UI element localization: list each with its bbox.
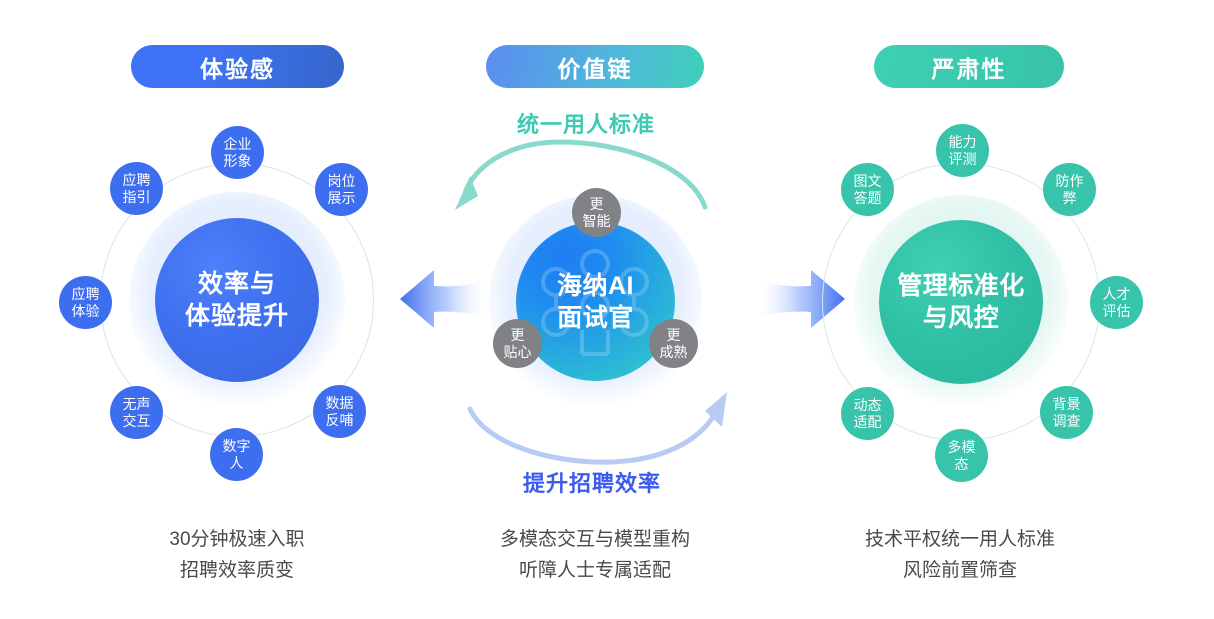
arc-bottom-label: 提升招聘效率 (523, 466, 661, 498)
sat-line2: 调查 (1053, 413, 1081, 430)
right-satellite-multimodal[interactable]: 多模 态 (935, 429, 988, 482)
right-satellite-dynamic-adaptation[interactable]: 动态 适配 (841, 387, 894, 440)
center-core-circle: 海纳AI 面试官 (516, 222, 675, 381)
sat-line1: 防作 (1056, 173, 1084, 190)
caption-center-line1: 多模态交互与模型重构 (455, 525, 735, 556)
arc-top-label: 统一用人标准 (517, 107, 655, 139)
right-satellite-image-text-qa[interactable]: 图文 答题 (841, 163, 894, 216)
sat-line2: 态 (955, 456, 969, 473)
caption-right-line2: 风险前置筛查 (820, 556, 1100, 587)
right-satellite-capability-assessment[interactable]: 能力 评测 (936, 124, 989, 177)
sat-line1: 动态 (854, 397, 882, 414)
sat-line2: 评测 (949, 151, 977, 168)
right-core-circle: 管理标准化 与风控 (879, 220, 1043, 384)
right-core-line1: 管理标准化 (897, 270, 1025, 302)
right-satellite-background-check[interactable]: 背景 调查 (1040, 386, 1093, 439)
sat-line1: 能力 (949, 134, 977, 151)
arc-top-unified-standard-icon (455, 142, 705, 210)
sat-line1: 多模 (948, 439, 976, 456)
caption-left-line1: 30分钟极速入职 (97, 525, 377, 556)
caption-left: 30分钟极速入职 招聘效率质变 (97, 525, 377, 587)
caption-left-line2: 招聘效率质变 (97, 556, 377, 587)
sat-line2: 弊 (1063, 190, 1077, 207)
sat-line1: 图文 (854, 173, 882, 190)
caption-center: 多模态交互与模型重构 听障人士专属适配 (455, 525, 735, 587)
caption-right: 技术平权统一用人标准 风险前置筛查 (820, 525, 1100, 587)
right-core-line2: 与风控 (923, 302, 1000, 334)
caption-right-line1: 技术平权统一用人标准 (820, 525, 1100, 556)
sat-line2: 适配 (854, 414, 882, 431)
caption-center-line2: 听障人士专属适配 (455, 556, 735, 587)
sat-line1: 人才 (1103, 286, 1131, 303)
right-satellite-talent-evaluation[interactable]: 人才 评估 (1090, 276, 1143, 329)
arc-bottom-efficiency-icon (470, 392, 727, 462)
sat-line1: 背景 (1053, 396, 1081, 413)
right-satellite-anti-cheating[interactable]: 防作 弊 (1043, 163, 1096, 216)
center-core-line2: 面试官 (557, 302, 634, 334)
center-core-line1: 海纳AI (557, 270, 634, 302)
sat-line2: 答题 (854, 190, 882, 207)
sat-line2: 评估 (1103, 303, 1131, 320)
infographic-canvas: 体验感 价值链 严肃性 效率与 体验提升 企业 形象 岗位 展示 数据 反哺 数… (0, 0, 1214, 619)
